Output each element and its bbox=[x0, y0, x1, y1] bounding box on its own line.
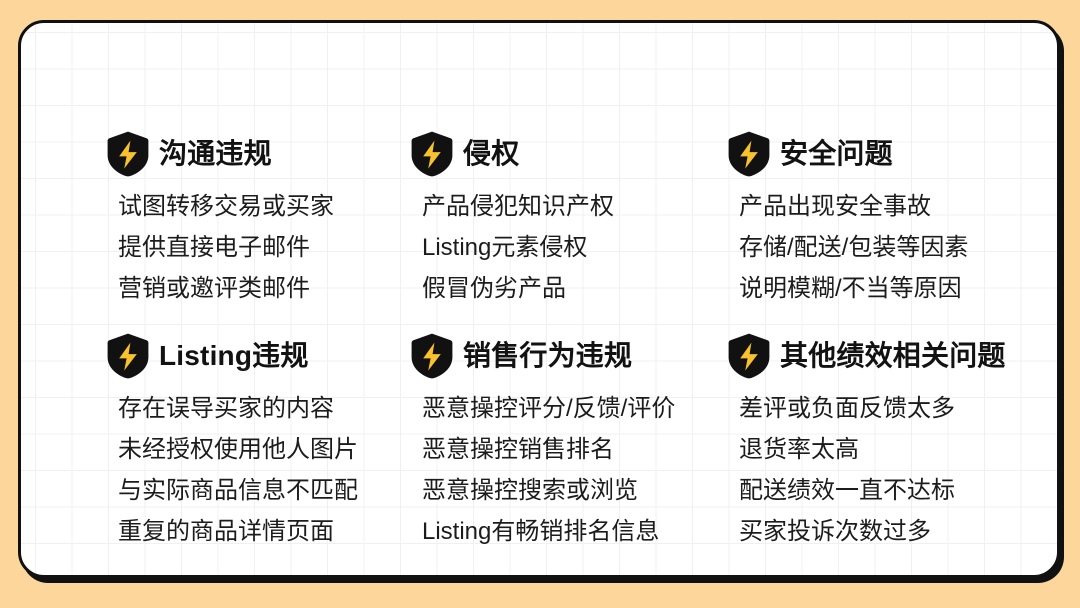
category-item-list: 产品侵犯知识产权 Listing元素侵权 假冒伪劣产品 bbox=[422, 186, 614, 309]
category-header: 安全问题 bbox=[728, 131, 968, 177]
list-item: 差评或负面反馈太多 bbox=[739, 388, 1006, 429]
list-item: 未经授权使用他人图片 bbox=[118, 429, 358, 470]
list-item: 产品侵犯知识产权 bbox=[422, 186, 614, 227]
category-title: 侵权 bbox=[463, 140, 519, 168]
category-item-list: 试图转移交易或买家 提供直接电子邮件 营销或邀评类邮件 bbox=[118, 186, 334, 309]
list-item: 产品出现安全事故 bbox=[739, 186, 968, 227]
list-item: Listing有畅销排名信息 bbox=[422, 511, 675, 552]
list-item: 重复的商品详情页面 bbox=[118, 511, 358, 552]
category-item-list: 恶意操控评分/反馈/评价 恶意操控销售排名 恶意操控搜索或浏览 Listing有… bbox=[422, 388, 675, 552]
category-header: 沟通违规 bbox=[107, 131, 334, 177]
category-title: 沟通违规 bbox=[159, 140, 272, 168]
list-item: 与实际商品信息不匹配 bbox=[118, 470, 358, 511]
shield-bolt-icon bbox=[107, 131, 149, 177]
category-block-safety: 安全问题 产品出现安全事故 存储/配送/包装等因素 说明模糊/不当等原因 bbox=[728, 131, 968, 309]
category-block-listing: Listing违规 存在误导买家的内容 未经授权使用他人图片 与实际商品信息不匹… bbox=[107, 333, 358, 552]
shield-bolt-icon bbox=[728, 131, 770, 177]
category-title: 其他绩效相关问题 bbox=[780, 342, 1006, 370]
shield-bolt-icon bbox=[411, 333, 453, 379]
category-header: 侵权 bbox=[411, 131, 614, 177]
list-item: 说明模糊/不当等原因 bbox=[739, 268, 968, 309]
list-item: 恶意操控搜索或浏览 bbox=[422, 470, 675, 511]
shield-bolt-icon bbox=[728, 333, 770, 379]
category-title: Listing违规 bbox=[159, 342, 309, 370]
category-item-list: 存在误导买家的内容 未经授权使用他人图片 与实际商品信息不匹配 重复的商品详情页… bbox=[118, 388, 358, 552]
card-content: 沟通违规 试图转移交易或买家 提供直接电子邮件 营销或邀评类邮件 侵权 bbox=[21, 23, 1057, 575]
list-item: 假冒伪劣产品 bbox=[422, 268, 614, 309]
category-block-sales-behavior: 销售行为违规 恶意操控评分/反馈/评价 恶意操控销售排名 恶意操控搜索或浏览 L… bbox=[411, 333, 675, 552]
list-item: 提供直接电子邮件 bbox=[118, 227, 334, 268]
list-item: 买家投诉次数过多 bbox=[739, 511, 1006, 552]
list-item: 退货率太高 bbox=[739, 429, 1006, 470]
category-block-other-performance: 其他绩效相关问题 差评或负面反馈太多 退货率太高 配送绩效一直不达标 买家投诉次… bbox=[728, 333, 1006, 552]
content-card: 沟通违规 试图转移交易或买家 提供直接电子邮件 营销或邀评类邮件 侵权 bbox=[18, 20, 1060, 578]
shield-bolt-icon bbox=[107, 333, 149, 379]
list-item: 试图转移交易或买家 bbox=[118, 186, 334, 227]
list-item: 恶意操控评分/反馈/评价 bbox=[422, 388, 675, 429]
category-header: Listing违规 bbox=[107, 333, 358, 379]
infographic-root: 沟通违规 试图转移交易或买家 提供直接电子邮件 营销或邀评类邮件 侵权 bbox=[0, 0, 1080, 608]
category-item-list: 差评或负面反馈太多 退货率太高 配送绩效一直不达标 买家投诉次数过多 bbox=[739, 388, 1006, 552]
category-block-infringement: 侵权 产品侵犯知识产权 Listing元素侵权 假冒伪劣产品 bbox=[411, 131, 614, 309]
list-item: 营销或邀评类邮件 bbox=[118, 268, 334, 309]
category-block-communication: 沟通违规 试图转移交易或买家 提供直接电子邮件 营销或邀评类邮件 bbox=[107, 131, 334, 309]
shield-bolt-icon bbox=[411, 131, 453, 177]
category-item-list: 产品出现安全事故 存储/配送/包装等因素 说明模糊/不当等原因 bbox=[739, 186, 968, 309]
category-header: 销售行为违规 bbox=[411, 333, 675, 379]
category-title: 安全问题 bbox=[780, 140, 893, 168]
category-title: 销售行为违规 bbox=[463, 342, 632, 370]
list-item: 存储/配送/包装等因素 bbox=[739, 227, 968, 268]
list-item: 存在误导买家的内容 bbox=[118, 388, 358, 429]
category-header: 其他绩效相关问题 bbox=[728, 333, 1006, 379]
list-item: 恶意操控销售排名 bbox=[422, 429, 675, 470]
list-item: 配送绩效一直不达标 bbox=[739, 470, 1006, 511]
list-item: Listing元素侵权 bbox=[422, 227, 614, 268]
